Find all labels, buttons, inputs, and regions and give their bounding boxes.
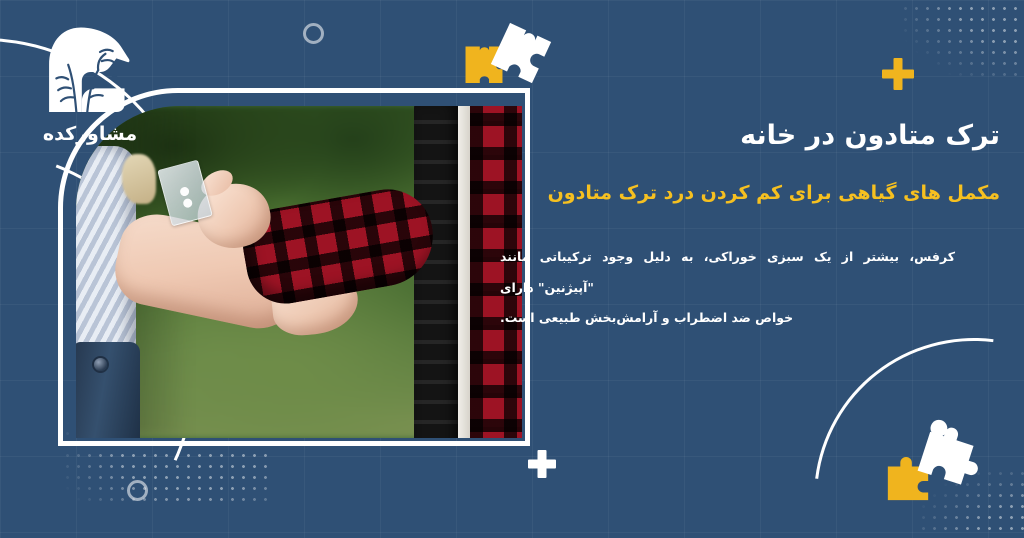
head-with-plants-logo-icon [40,24,140,120]
puzzle-piece-icon-bottom-yellow [884,456,932,504]
brand-logo[interactable]: مشاورکده [30,24,150,154]
brand-logo-text: مشاورکده [30,123,150,145]
plus-icon-bottom-center [528,450,556,478]
photo-image [76,106,522,438]
plus-icon-top-right [882,58,914,90]
promo-banner: مشاورکده ترک متادون در خانه مکمل های گیا… [0,0,1024,538]
circle-outline-icon-bottom [127,480,148,501]
body-line-2: خواص ضد اضطراب و آرامش‌بخش طبیعی است. [500,303,955,334]
body-paragraph: کرفس، بیشتر از یک سبزی خوراکی، به دلیل و… [500,242,955,334]
dot-grid-pattern-bottom-right [918,468,1024,538]
circle-outline-icon-top [303,23,324,44]
dot-grid-pattern-top-right [900,0,1024,84]
page-subtitle: مکمل های گیاهی برای کم کردن درد ترک متاد… [500,180,1000,208]
puzzle-piece-icon-top-white [485,17,557,89]
page-title: ترک متادون در خانه [500,118,1000,154]
text-content: ترک متادون در خانه مکمل های گیاهی برای ک… [500,118,1000,334]
body-line-1: کرفس، بیشتر از یک سبزی خوراکی، به دلیل و… [500,249,955,295]
puzzle-piece-icon-top-yellow [461,44,507,86]
puzzle-piece-icon-bottom-white [907,411,996,498]
